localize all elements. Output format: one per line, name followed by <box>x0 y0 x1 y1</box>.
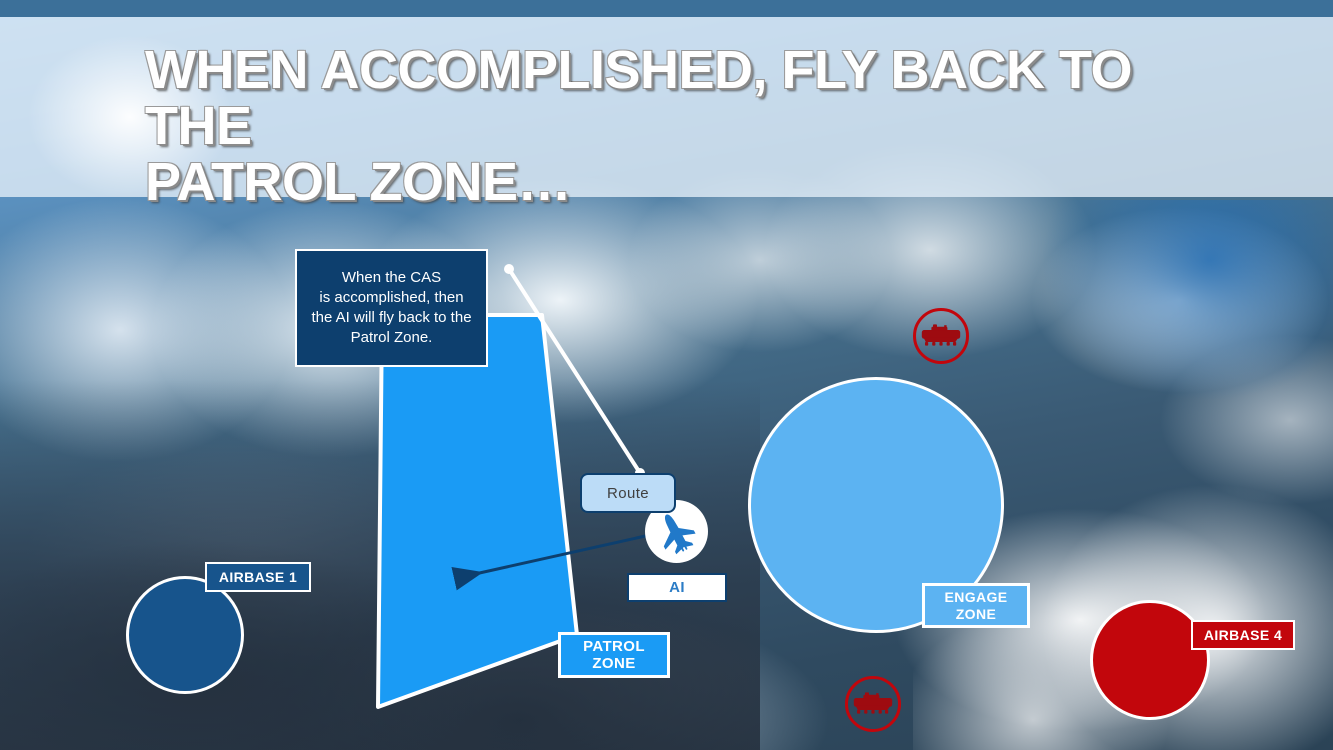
callout-line-4: Patrol Zone. <box>311 328 471 348</box>
airbase-1-label[interactable]: AIRBASE 1 <box>205 562 311 592</box>
callout-line-3: the AI will fly back to the <box>311 308 471 328</box>
callout-line-1: When the CAS <box>311 268 471 288</box>
airbase-1-marker[interactable] <box>126 576 244 694</box>
engage-zone-label-line-2: ZONE <box>944 606 1007 623</box>
callout-line-2: is accomplished, then <box>311 288 471 308</box>
patrol-zone-label[interactable]: PATROL ZONE <box>558 632 670 678</box>
tank-icon[interactable] <box>913 308 969 364</box>
engage-zone-label-line-1: ENGAGE <box>944 589 1007 606</box>
page-title: WHEN ACCOMPLISHED, FLY BACK TO THE PATRO… <box>145 42 1235 210</box>
fighter-jet-glyph <box>654 509 700 555</box>
airbase-4-marker[interactable] <box>1090 600 1210 720</box>
tank-glyph <box>853 691 893 717</box>
ai-label[interactable]: AI <box>627 573 727 602</box>
engage-zone-label[interactable]: ENGAGE ZONE <box>922 583 1030 628</box>
slide-canvas: WHEN ACCOMPLISHED, FLY BACK TO THE PATRO… <box>0 0 1333 750</box>
patrol-zone-label-line-1: PATROL <box>583 638 645 655</box>
tank-glyph <box>921 323 961 349</box>
cas-callout-box: When the CAS is accomplished, then the A… <box>295 249 488 367</box>
sky-blue-patch <box>1010 200 1333 480</box>
page-title-line-1: WHEN ACCOMPLISHED, FLY BACK TO THE <box>145 42 1235 154</box>
airbase-4-label[interactable]: AIRBASE 4 <box>1191 620 1295 650</box>
page-title-line-2: PATROL ZONE… <box>145 154 1235 210</box>
tank-icon[interactable] <box>845 676 901 732</box>
patrol-zone-label-line-2: ZONE <box>583 655 645 672</box>
route-label[interactable]: Route <box>580 473 676 513</box>
top-accent-bar <box>0 0 1333 17</box>
